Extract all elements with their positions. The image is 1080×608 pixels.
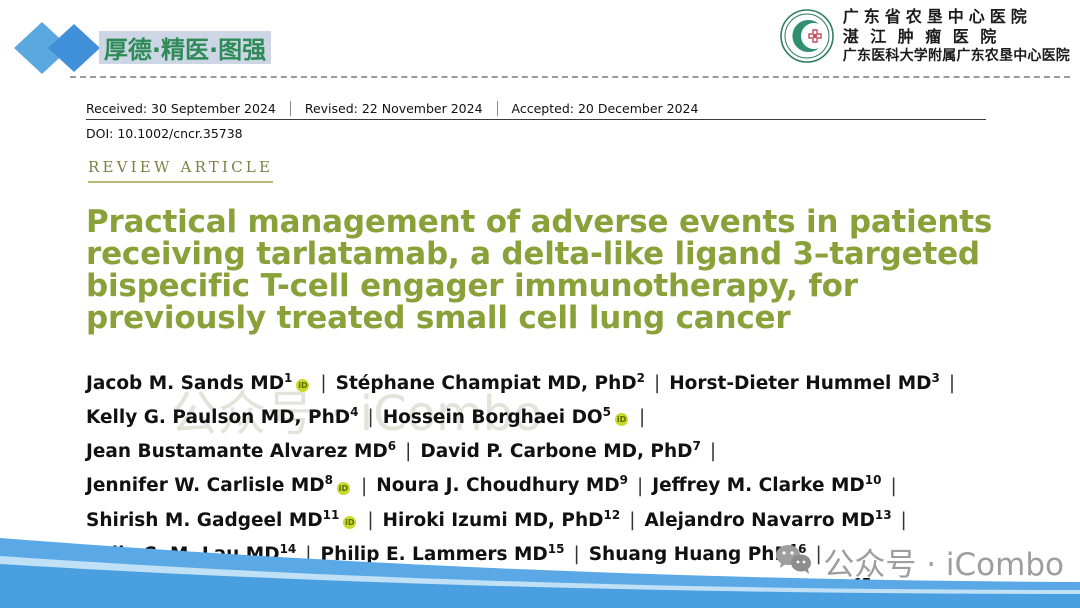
author-affiliation-marker[interactable]: 6 xyxy=(388,439,396,453)
doi-text[interactable]: DOI: 10.1002/cncr.35738 xyxy=(86,126,243,141)
motto-badge: 厚德·精医·图强 xyxy=(99,31,271,64)
hospital-name-line1: 广东省农垦中心医院 xyxy=(843,8,1070,27)
page-header: 厚德·精医·图强 广东省农垦中心医院 湛江肿瘤医院 广东医科大学附属广东农垦中心… xyxy=(0,0,1080,88)
author-row: Kelly G. Paulson MD, PhD4|Hossein Borgha… xyxy=(86,398,1036,432)
hospital-name-block: 广东省农垦中心医院 湛江肿瘤医院 广东医科大学附属广东农垦中心医院 xyxy=(843,8,1070,65)
wechat-watermark-text: 公众号 · iCombo xyxy=(823,539,1064,584)
author-affiliation-marker[interactable]: 3 xyxy=(932,371,940,385)
motto-text: 厚德·精医·图强 xyxy=(104,30,266,65)
revised-date: Revised: 22 November 2024 xyxy=(305,101,497,116)
author-row: Jennifer W. Carlisle MD8iD|Noura J. Chou… xyxy=(86,466,1036,500)
author-name[interactable]: Kelly G. Paulson MD, PhD xyxy=(86,407,350,428)
double-diamond-logo xyxy=(12,20,104,76)
author-row: Jean Bustamante Alvarez MD6|David P. Car… xyxy=(86,432,1036,466)
author-separator: | xyxy=(940,373,964,394)
orcid-icon[interactable]: iD xyxy=(296,379,309,392)
hospital-identity: 广东省农垦中心医院 湛江肿瘤医院 广东医科大学附属广东农垦中心医院 xyxy=(779,8,1070,65)
slide-page: 厚德·精医·图强 广东省农垦中心医院 湛江肿瘤医院 广东医科大学附属广东农垦中心… xyxy=(0,0,1080,608)
accepted-date: Accepted: 20 December 2024 xyxy=(512,101,713,116)
header-divider xyxy=(70,76,1070,78)
author-name[interactable]: Jacob M. Sands MD xyxy=(86,373,284,394)
page-title: Practical management of adverse events i… xyxy=(86,206,1016,334)
orcid-icon[interactable]: iD xyxy=(337,482,350,495)
author-separator: | xyxy=(352,476,376,497)
author-row: Jacob M. Sands MD1iD|Stéphane Champiat M… xyxy=(86,364,1036,398)
author-affiliation-marker[interactable]: 1 xyxy=(284,371,292,385)
hospital-emblem-icon xyxy=(779,8,835,64)
author-name[interactable]: Jeffrey M. Clarke MD xyxy=(652,476,865,497)
section-label: REVIEW ARTICLE xyxy=(88,158,273,183)
received-date: Received: 30 September 2024 xyxy=(86,101,290,116)
author-name[interactable]: David P. Carbone MD, PhD xyxy=(420,441,692,462)
author-name[interactable]: Jennifer W. Carlisle MD xyxy=(86,476,325,497)
meta-separator xyxy=(497,101,498,116)
meta-separator xyxy=(290,101,291,116)
wechat-watermark: 公众号 · iCombo xyxy=(775,539,1064,584)
author-separator: | xyxy=(881,476,905,497)
author-name[interactable]: Stéphane Champiat MD, PhD xyxy=(336,373,637,394)
author-affiliation-marker[interactable]: 7 xyxy=(693,439,701,453)
author-name[interactable]: Noura J. Choudhury MD xyxy=(376,476,619,497)
author-affiliation-marker[interactable]: 8 xyxy=(325,473,333,487)
author-affiliation-marker[interactable]: 5 xyxy=(603,405,611,419)
author-separator: | xyxy=(701,441,725,462)
author-name[interactable]: Hossein Borghaei DO xyxy=(383,407,603,428)
author-affiliation-marker[interactable]: 9 xyxy=(620,473,628,487)
publication-dates: Received: 30 September 2024 Revised: 22 … xyxy=(86,101,986,120)
wechat-icon xyxy=(775,543,813,580)
author-name[interactable]: Horst-Dieter Hummel MD xyxy=(669,373,931,394)
author-separator: | xyxy=(396,441,420,462)
author-affiliation-marker[interactable]: 10 xyxy=(865,473,882,487)
author-separator: | xyxy=(645,373,669,394)
author-separator: | xyxy=(628,476,652,497)
author-separator: | xyxy=(630,407,654,428)
hospital-name-line3: 广东医科大学附属广东农垦中心医院 xyxy=(843,48,1070,65)
author-separator: | xyxy=(358,407,382,428)
hospital-name-line2: 湛江肿瘤医院 xyxy=(843,28,1070,47)
orcid-icon[interactable]: iD xyxy=(615,413,628,426)
author-affiliation-marker[interactable]: 2 xyxy=(637,371,645,385)
author-name[interactable]: Jean Bustamante Alvarez MD xyxy=(86,441,388,462)
author-separator: | xyxy=(311,373,335,394)
